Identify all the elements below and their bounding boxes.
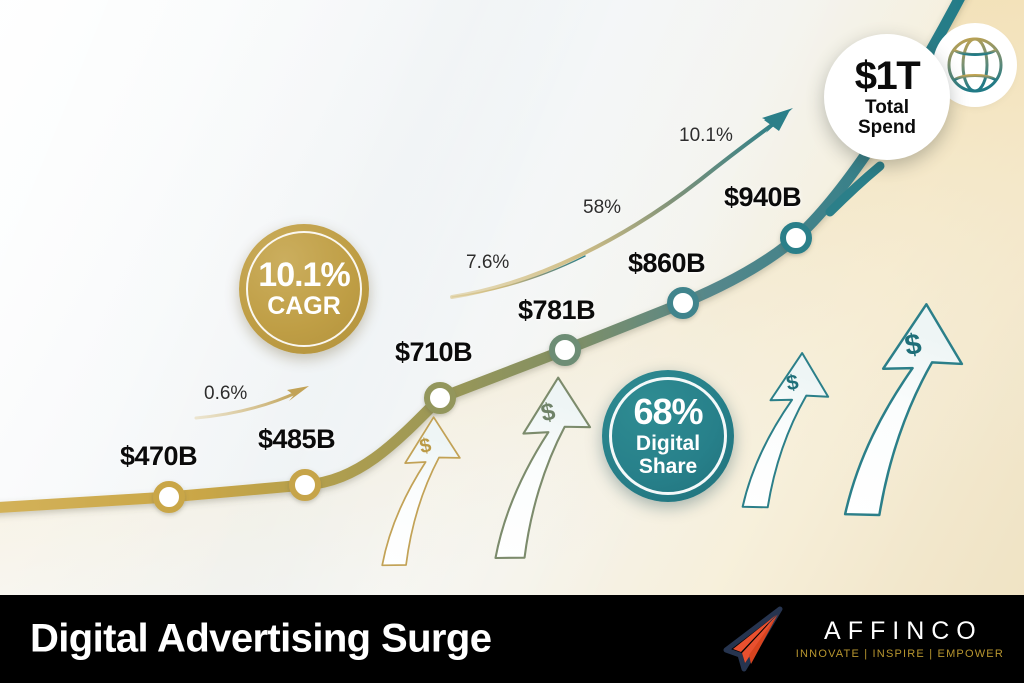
growth-label-58: 58% bbox=[583, 197, 621, 219]
value-label-1: $470B bbox=[120, 441, 197, 472]
cagr-badge[interactable]: 10.1% CAGR bbox=[239, 224, 369, 354]
value-label-2: $485B bbox=[258, 424, 335, 455]
growth-label-10-1: 10.1% bbox=[679, 125, 733, 147]
cagr-badge-label: CAGR bbox=[267, 294, 341, 320]
digital-share-badge-value: 68% bbox=[633, 394, 702, 431]
logo-text-block: AFFINCO INNOVATE | INSPIRE | EMPOWER bbox=[796, 619, 1004, 660]
chart-stage: $ $ $ $ bbox=[0, 0, 1024, 595]
digital-share-badge-label-line1: Digital bbox=[636, 433, 700, 454]
data-point-marker[interactable] bbox=[427, 385, 453, 411]
data-point-marker[interactable] bbox=[156, 484, 182, 510]
affinco-logo[interactable]: AFFINCO INNOVATE | INSPIRE | EMPOWER bbox=[722, 606, 1004, 672]
cagr-badge-value: 10.1% bbox=[258, 258, 349, 293]
data-point-marker[interactable] bbox=[552, 337, 578, 363]
growth-label-0-6: 0.6% bbox=[204, 383, 247, 405]
total-spend-badge-value: $1T bbox=[855, 56, 919, 97]
value-label-3: $710B bbox=[395, 337, 472, 368]
logo-name: AFFINCO bbox=[817, 619, 983, 644]
value-label-5: $860B bbox=[628, 248, 705, 279]
page-title: Digital Advertising Surge bbox=[30, 617, 491, 662]
value-label-6: $940B bbox=[724, 182, 801, 213]
growth-label-7-6: 7.6% bbox=[466, 252, 509, 274]
digital-share-badge[interactable]: 68% Digital Share bbox=[602, 370, 734, 502]
data-point-marker[interactable] bbox=[783, 225, 809, 251]
logo-tagline: INNOVATE | INSPIRE | EMPOWER bbox=[796, 649, 1004, 660]
value-label-4: $781B bbox=[518, 295, 595, 326]
paper-plane-icon bbox=[722, 606, 786, 672]
footer-bar: Digital Advertising Surge AFFINCO INNOVA… bbox=[0, 595, 1024, 683]
data-point-marker[interactable] bbox=[292, 472, 318, 498]
infographic-canvas: $ $ $ $ bbox=[0, 0, 1024, 683]
total-spend-badge-label-line1: Total bbox=[865, 98, 909, 118]
data-point-marker[interactable] bbox=[670, 290, 696, 316]
total-spend-badge[interactable]: $1T Total Spend bbox=[824, 34, 950, 160]
total-spend-badge-label-line2: Spend bbox=[858, 118, 916, 138]
digital-share-badge-label-line2: Share bbox=[639, 456, 697, 477]
growth-small-arrowhead bbox=[287, 386, 309, 401]
